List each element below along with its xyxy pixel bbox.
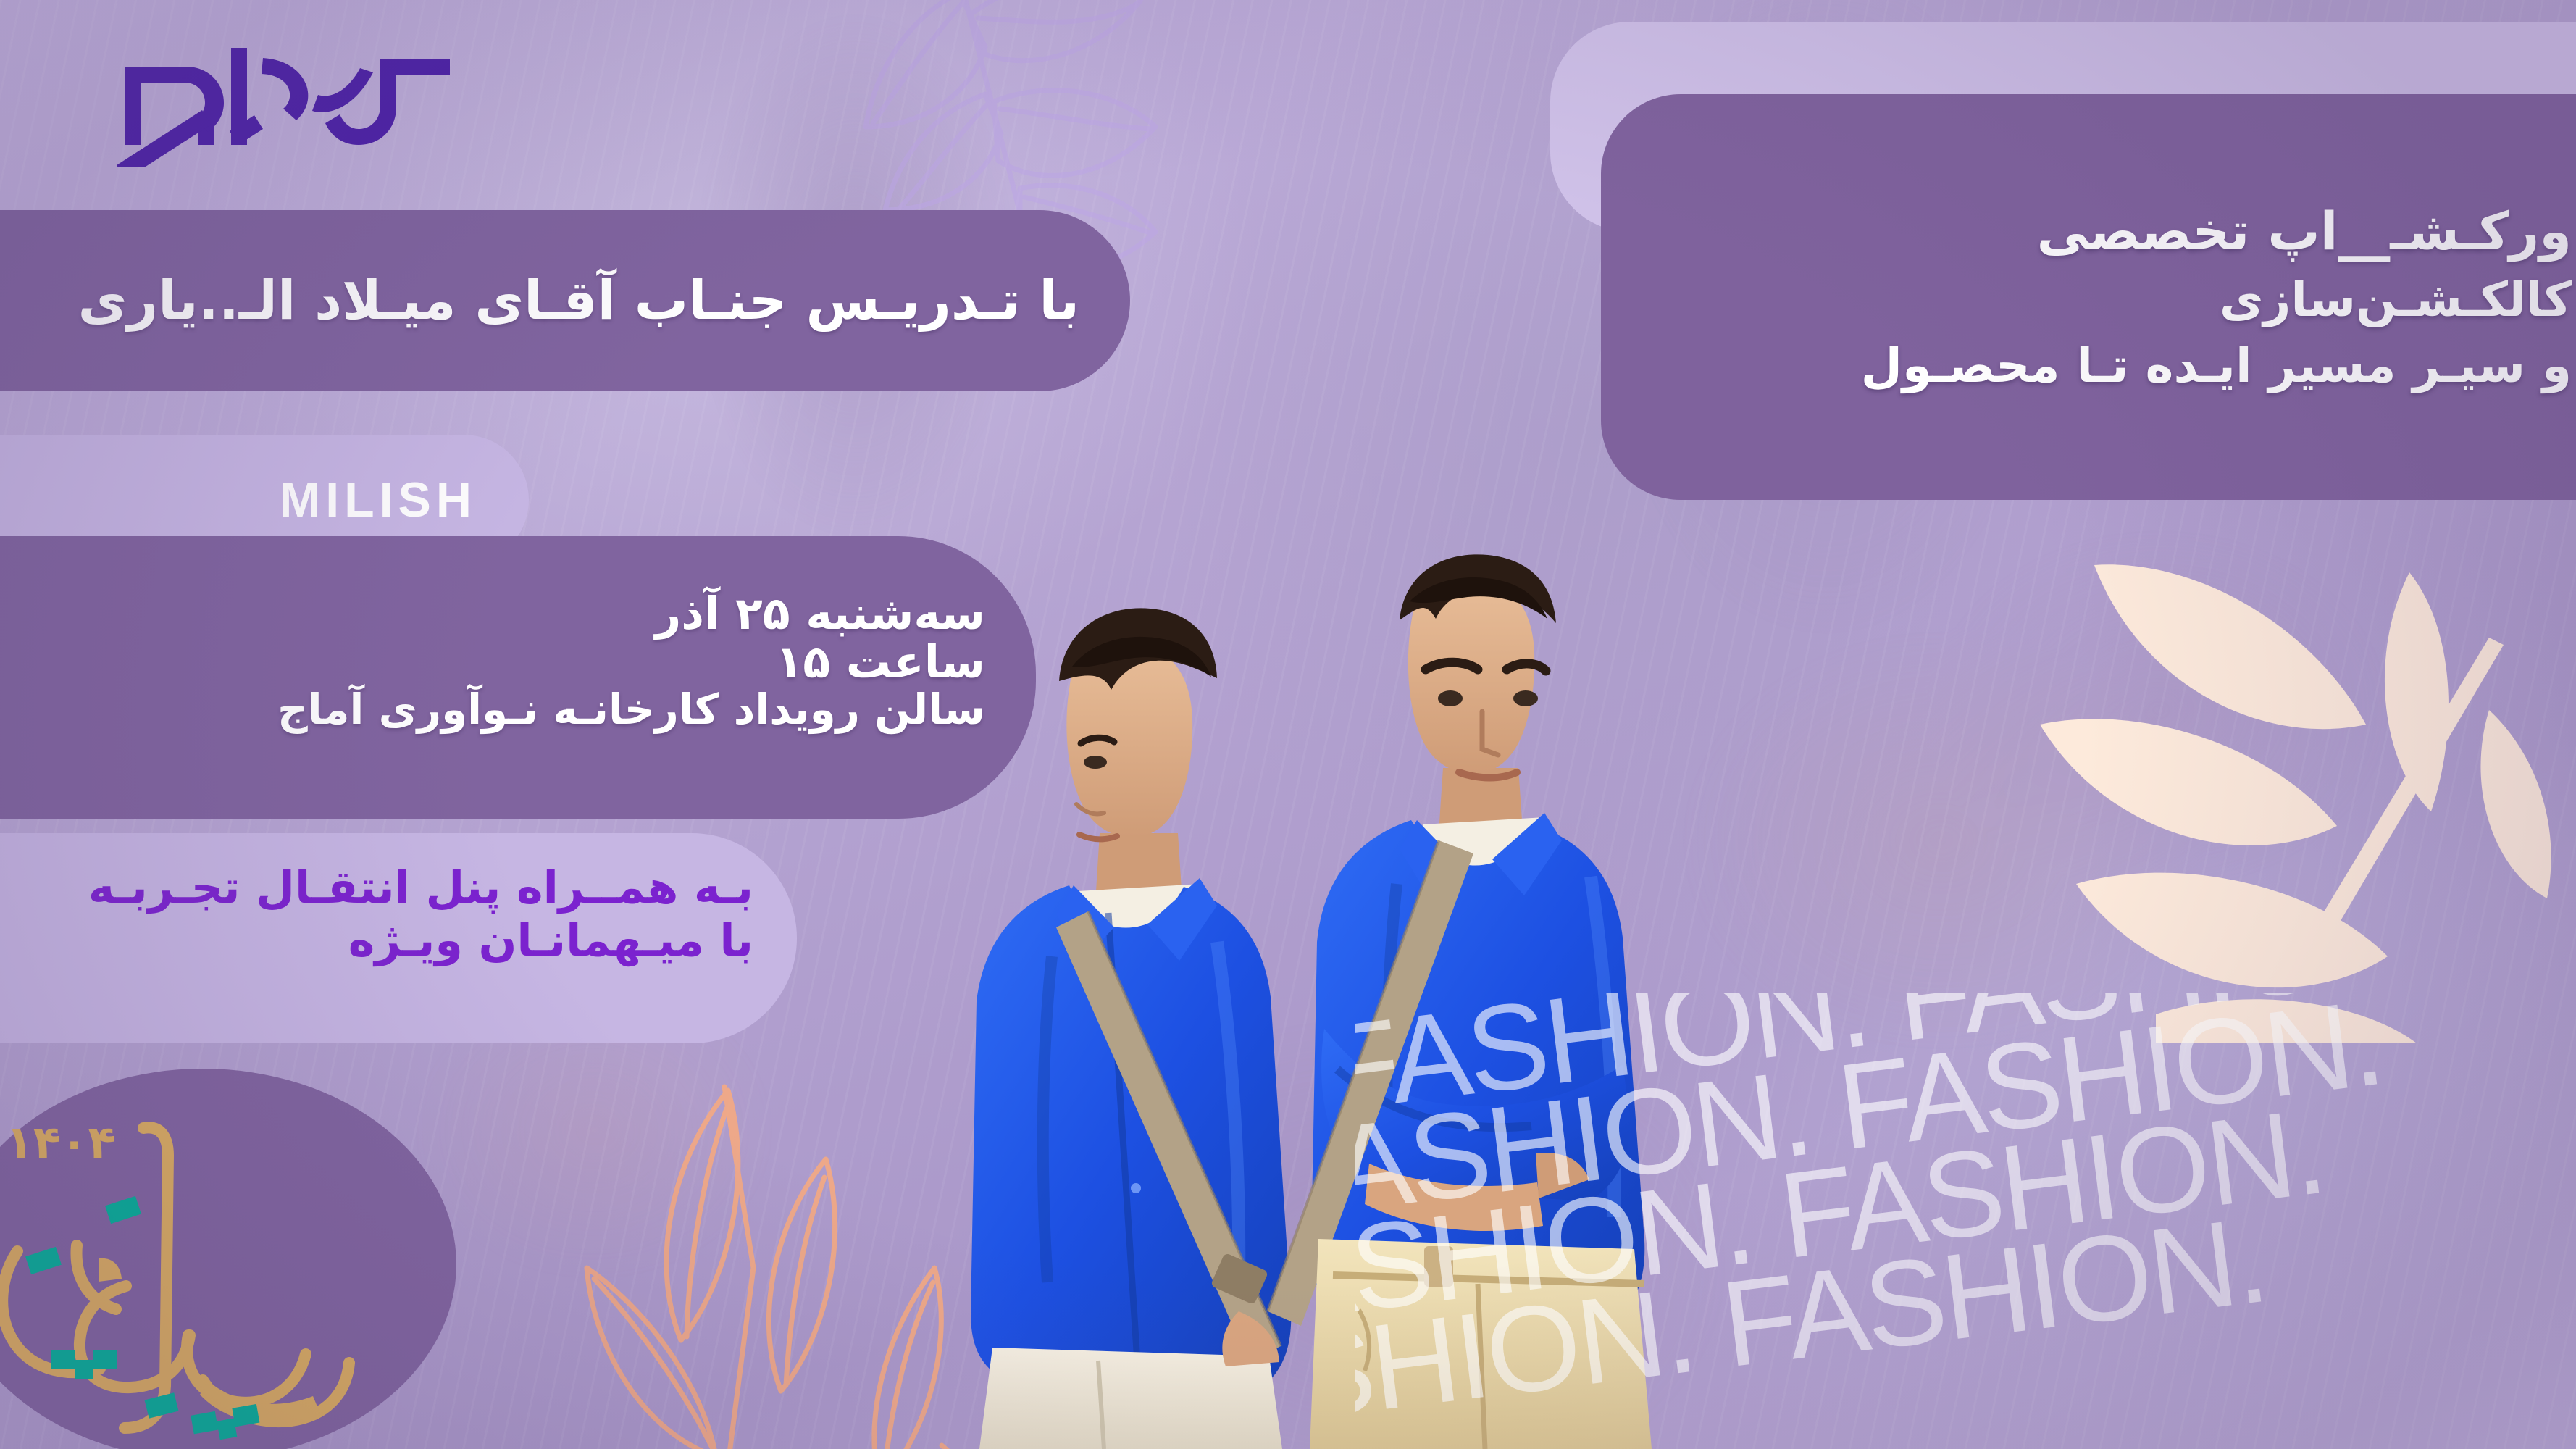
- poster-canvas: ورکـشـ__اپ تخصصی کالکـشـن‌سازی و سیـر مس…: [0, 0, 2576, 1449]
- vignette-overlay: [0, 0, 2576, 1449]
